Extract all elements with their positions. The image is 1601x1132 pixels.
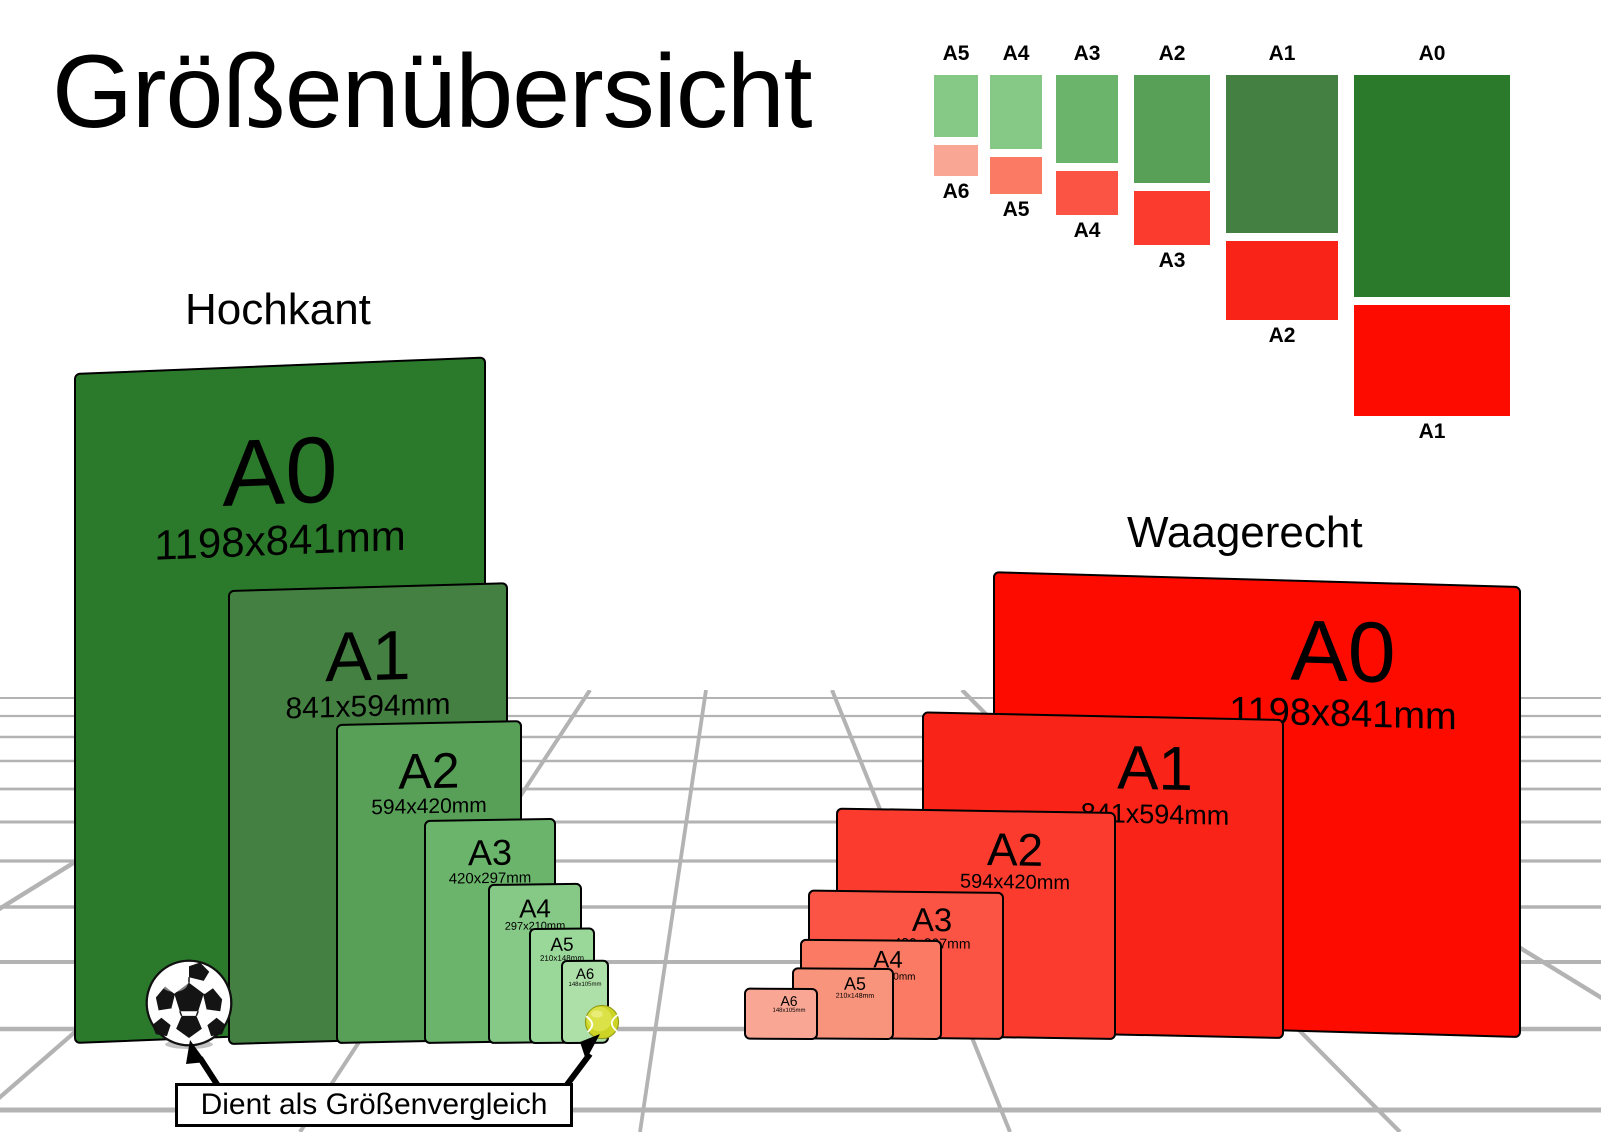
- portrait-sheet-a0-label: A0 1198x841mm: [76, 417, 484, 571]
- legend-top-label-2: A3: [1056, 42, 1118, 66]
- portrait-sheet-a6-name: A6: [563, 967, 607, 982]
- portrait-sheet-a1-name: A1: [230, 617, 506, 695]
- page-title: Größenübersicht: [52, 38, 812, 147]
- legend-bottom-label-0: A6: [934, 180, 978, 204]
- legend-red-rect-1: [990, 157, 1042, 194]
- portrait-sheet-a3-name: A3: [426, 834, 554, 872]
- poster-canvas: Größenübersicht Hochkant Waagerecht A5 A…: [0, 0, 1601, 1132]
- portrait-sheet-a0-name: A0: [76, 417, 484, 527]
- size-legend: A5 A6 A4 A5 A3 A4 A2 A3 A1 A2 A0 A1: [920, 42, 1590, 482]
- callout-arrow-right: [556, 1030, 616, 1090]
- portrait-sheet-a6-label: A6 148x105mm: [563, 967, 607, 989]
- legend-bottom-label-2: A4: [1056, 219, 1118, 243]
- size-comparison-callout: Dient als Größenvergleich: [175, 1083, 573, 1127]
- portrait-sheet-a5-name: A5: [531, 935, 593, 955]
- legend-bottom-label-1: A5: [990, 198, 1042, 222]
- landscape-sheet-a2-name: A2: [926, 825, 1104, 874]
- legend-red-rect-0: [934, 145, 978, 176]
- size-comparison-callout-text: Dient als Größenvergleich: [201, 1088, 548, 1122]
- legend-bottom-label-3: A3: [1134, 249, 1210, 273]
- landscape-sheet-a6-label: A6 148x105mm: [765, 994, 813, 1015]
- portrait-sheet-a4-name: A4: [490, 895, 580, 922]
- landscape-sheet-a2-label: A2 594x420mm: [926, 825, 1104, 895]
- portrait-sheet-a2-label: A2 594x420mm: [338, 744, 520, 820]
- legend-green-rect-4: [1226, 75, 1338, 233]
- landscape-sheet-a6-name: A6: [765, 994, 813, 1008]
- section-title-landscape: Waagerecht: [1127, 508, 1363, 558]
- legend-red-rect-5: [1354, 305, 1510, 416]
- landscape-sheet-a0-name: A0: [1183, 605, 1503, 700]
- landscape-sheet-a5-name: A5: [822, 974, 888, 992]
- landscape-sheet-a5-dim: 210x148mm: [822, 992, 888, 1000]
- legend-top-label-4: A1: [1226, 42, 1338, 66]
- legend-red-rect-4: [1226, 241, 1338, 320]
- legend-green-rect-5: [1354, 75, 1510, 297]
- legend-top-label-0: A5: [934, 42, 978, 66]
- portrait-sheet-a6-dim: 148x105mm: [563, 982, 607, 989]
- legend-bottom-label-5: A1: [1354, 420, 1510, 444]
- legend-bottom-label-4: A2: [1226, 324, 1338, 348]
- legend-top-label-1: A4: [990, 42, 1042, 66]
- legend-green-rect-3: [1134, 75, 1210, 183]
- landscape-sheet-a6[interactable]: A6 148x105mm: [744, 988, 818, 1040]
- portrait-sheet-a1-label: A1 841x594mm: [230, 617, 506, 726]
- landscape-sheet-a5-label: A5 210x148mm: [822, 974, 888, 1000]
- legend-red-rect-2: [1056, 171, 1118, 215]
- portrait-sheet-a2-name: A2: [338, 744, 520, 798]
- portrait-sheet-a3-label: A3 420x297mm: [426, 834, 554, 888]
- portrait-sheet-a0-dim: 1198x841mm: [76, 511, 484, 571]
- legend-green-rect-0: [934, 75, 978, 137]
- legend-green-rect-1: [990, 75, 1042, 149]
- section-title-portrait: Hochkant: [185, 285, 371, 335]
- landscape-sheet-a6-dim: 148x105mm: [765, 1008, 813, 1015]
- legend-green-rect-2: [1056, 75, 1118, 163]
- legend-top-label-5: A0: [1354, 42, 1510, 66]
- legend-red-rect-3: [1134, 191, 1210, 245]
- landscape-sheet-a3-name: A3: [870, 902, 994, 937]
- portrait-sheet-a2-dim: 594x420mm: [338, 794, 520, 820]
- landscape-sheet-a1-name: A1: [1040, 736, 1270, 803]
- legend-top-label-3: A2: [1134, 42, 1210, 66]
